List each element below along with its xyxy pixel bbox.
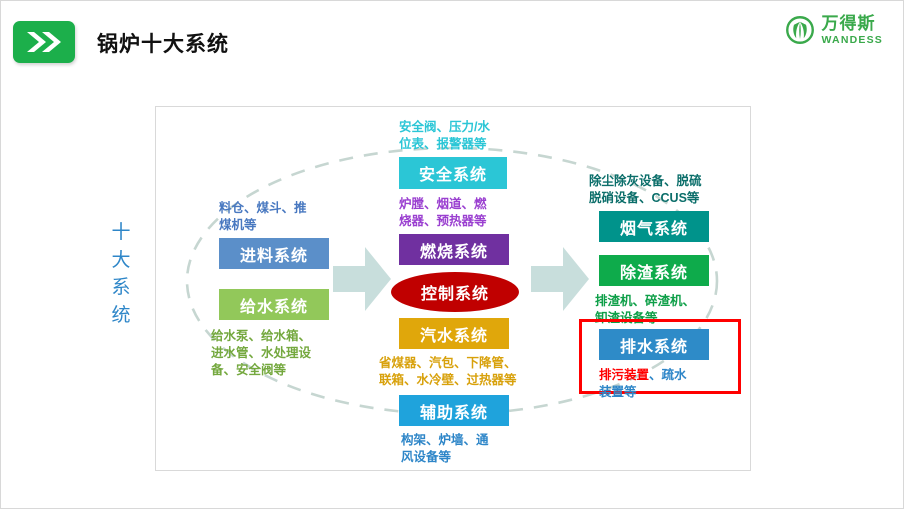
node-water-supply-system[interactable]: 给水系统 xyxy=(219,289,329,320)
vertical-label-char-2: 大 xyxy=(105,247,137,275)
double-chevron-right-icon xyxy=(13,21,75,63)
note-auxiliary: 构架、炉墙、通 风设备等 xyxy=(401,432,513,466)
node-drainage-system[interactable]: 排水系统 xyxy=(599,329,709,360)
node-slag-removal-system[interactable]: 除渣系统 xyxy=(599,255,709,286)
note-safety: 安全阀、压力/水 位表、报警器等 xyxy=(399,119,517,153)
flow-arrow-1 xyxy=(331,244,393,314)
vertical-label-char-4: 统 xyxy=(105,302,137,330)
brand-name-en: WANDESS xyxy=(822,35,884,46)
note-drainage-highlight: 排污装置 xyxy=(599,368,649,382)
node-auxiliary-system[interactable]: 辅助系统 xyxy=(399,395,509,426)
vertical-label-char-3: 系 xyxy=(105,274,137,302)
note-combustion: 炉膛、烟道、燃 烧器、预热器等 xyxy=(399,196,517,230)
node-feed-system[interactable]: 进料系统 xyxy=(219,238,329,269)
note-water-supply: 给水泵、给水箱、 进水管、水处理设 备、安全阀等 xyxy=(211,328,333,379)
vertical-label-char-1: 十 xyxy=(105,219,137,247)
node-combustion-system[interactable]: 燃烧系统 xyxy=(399,234,509,265)
node-safety-system[interactable]: 安全系统 xyxy=(399,157,507,189)
wandess-plant-logo-icon xyxy=(785,15,815,45)
node-flue-gas-system[interactable]: 烟气系统 xyxy=(599,211,709,242)
note-flue-gas: 除尘除灰设备、脱硫 脱硝设备、CCUS等 xyxy=(589,173,727,207)
node-control-system[interactable]: 控制系统 xyxy=(391,272,519,312)
slide-page: 锅炉十大系统 万得斯 WANDESS 十 大 系 统 xyxy=(0,0,904,509)
ten-systems-vertical-label: 十 大 系 统 xyxy=(105,219,137,329)
node-steam-water-system[interactable]: 汽水系统 xyxy=(399,318,509,349)
note-drainage: 排污装置、疏水 装置等 xyxy=(599,367,717,401)
note-feed: 料仓、煤斗、推 煤机等 xyxy=(219,200,331,234)
slide-header: 锅炉十大系统 万得斯 WANDESS xyxy=(1,1,904,81)
brand-logo: 万得斯 WANDESS xyxy=(785,15,884,46)
flow-arrow-2 xyxy=(529,244,591,314)
note-steam-water: 省煤器、汽包、下降管、 联箱、水冷壁、过热器等 xyxy=(379,355,539,389)
page-title: 锅炉十大系统 xyxy=(97,28,229,58)
brand-name-cn: 万得斯 xyxy=(822,15,884,32)
